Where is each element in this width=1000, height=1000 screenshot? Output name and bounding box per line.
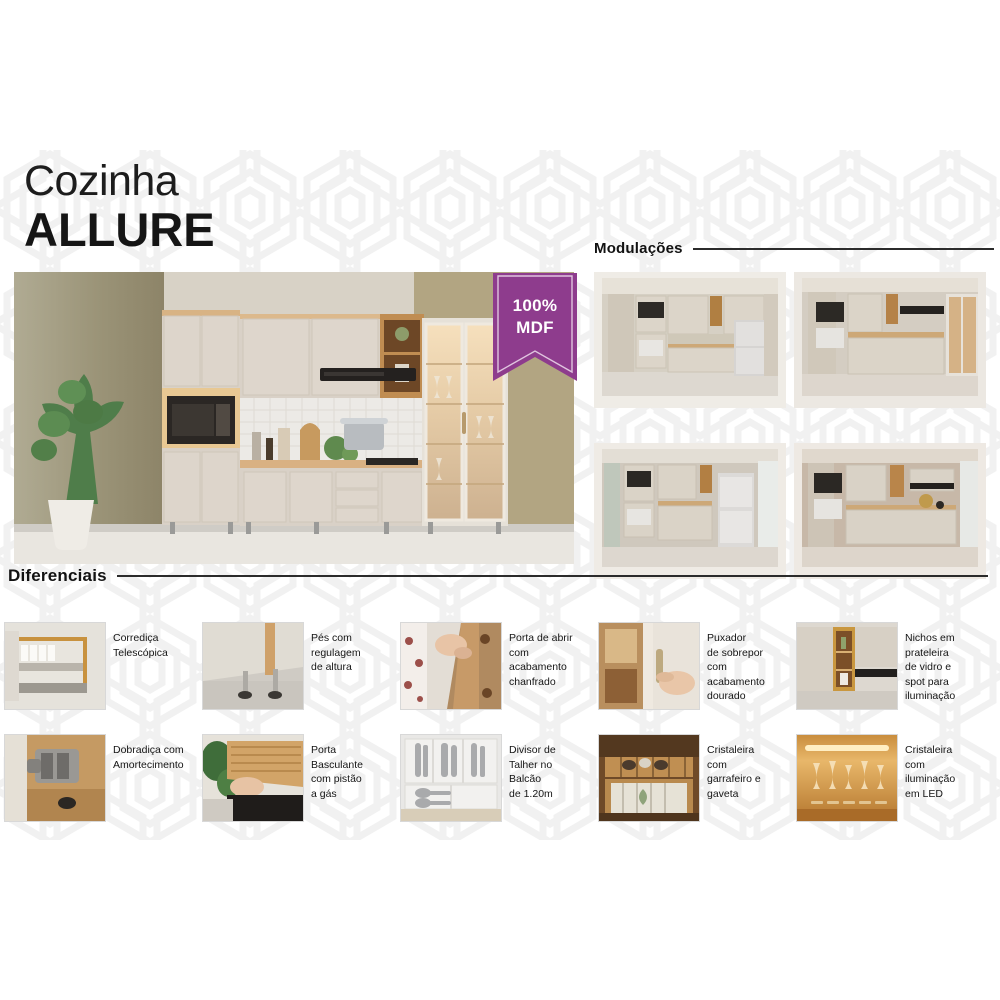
differential-label: Divisor de Talher no Balcão de 1.20m xyxy=(509,734,556,801)
modulation-thumbnail-3[interactable] xyxy=(594,443,786,579)
differential-label: Porta de abrir com acabamento chanfrado xyxy=(509,622,573,689)
differential-item[interactable]: Porta Basculante com pistão a gás xyxy=(202,724,400,836)
drawer-slide-icon xyxy=(4,622,106,710)
differential-item[interactable]: Porta de abrir com acabamento chanfrado xyxy=(400,612,598,724)
section-heading-diferenciais: Diferenciais xyxy=(8,566,988,586)
chamfered-door-icon xyxy=(400,622,502,710)
cutlery-divider-icon xyxy=(400,734,502,822)
section-heading-modulacoes-label: Modulações xyxy=(594,240,683,257)
section-heading-rule xyxy=(117,575,988,577)
differential-label: Cristaleira com garrafeiro e gaveta xyxy=(707,734,761,801)
differential-label: Dobradiça com Amortecimento xyxy=(113,734,184,772)
wine-rack-drawer-icon xyxy=(598,734,700,822)
soft-close-hinge-icon xyxy=(4,734,106,822)
modulation-thumbnail-4[interactable] xyxy=(794,443,986,579)
differential-item[interactable]: Pés com regulagem de altura xyxy=(202,612,400,724)
led-lit-cabinet-icon xyxy=(796,734,898,822)
gold-handle-icon xyxy=(598,622,700,710)
differential-item[interactable]: Dobradiça com Amortecimento xyxy=(4,724,202,836)
differentials-row: Corrediça Telescópica Pés com regulagem … xyxy=(4,612,996,724)
differentials-row: Dobradiça com Amortecimento Porta Bascu xyxy=(4,724,996,836)
hero-kitchen-image xyxy=(14,272,574,564)
differential-item[interactable]: Nichos em prateleira de vidro e spot par… xyxy=(796,612,994,724)
section-heading-diferenciais-label: Diferenciais xyxy=(8,566,107,586)
differential-label: Pés com regulagem de altura xyxy=(311,622,361,675)
differential-label: Porta Basculante com pistão a gás xyxy=(311,734,363,801)
section-heading-rule xyxy=(693,248,994,250)
adjustable-feet-icon xyxy=(202,622,304,710)
differential-item[interactable]: Cristaleira com garrafeiro e gaveta xyxy=(598,724,796,836)
differential-item[interactable]: Corrediça Telescópica xyxy=(4,612,202,724)
differential-label: Cristaleira com iluminação em LED xyxy=(905,734,955,801)
modulation-thumbnail-2[interactable] xyxy=(794,272,986,408)
section-heading-modulacoes: Modulações xyxy=(594,240,994,257)
mdf-badge: 100% MDF xyxy=(493,273,577,381)
differentials-grid: Corrediça Telescópica Pés com regulagem … xyxy=(4,612,996,836)
differential-item[interactable]: Divisor de Talher no Balcão de 1.20m xyxy=(400,724,598,836)
differential-label: Nichos em prateleira de vidro e spot par… xyxy=(905,622,955,704)
gas-piston-door-icon xyxy=(202,734,304,822)
page-title: Cozinha ALLURE xyxy=(24,160,215,254)
differential-label: Puxador de sobrepor com acabamento doura… xyxy=(707,622,765,704)
differential-item[interactable]: Puxador de sobrepor com acabamento doura… xyxy=(598,612,796,724)
title-line-allure: ALLURE xyxy=(24,205,215,254)
modulation-thumbnail-1[interactable] xyxy=(594,272,786,408)
glass-shelf-niche-icon xyxy=(796,622,898,710)
differential-item[interactable]: Cristaleira com iluminação em LED xyxy=(796,724,994,836)
title-line-cozinha: Cozinha xyxy=(24,160,215,203)
differential-label: Corrediça Telescópica xyxy=(113,622,168,660)
